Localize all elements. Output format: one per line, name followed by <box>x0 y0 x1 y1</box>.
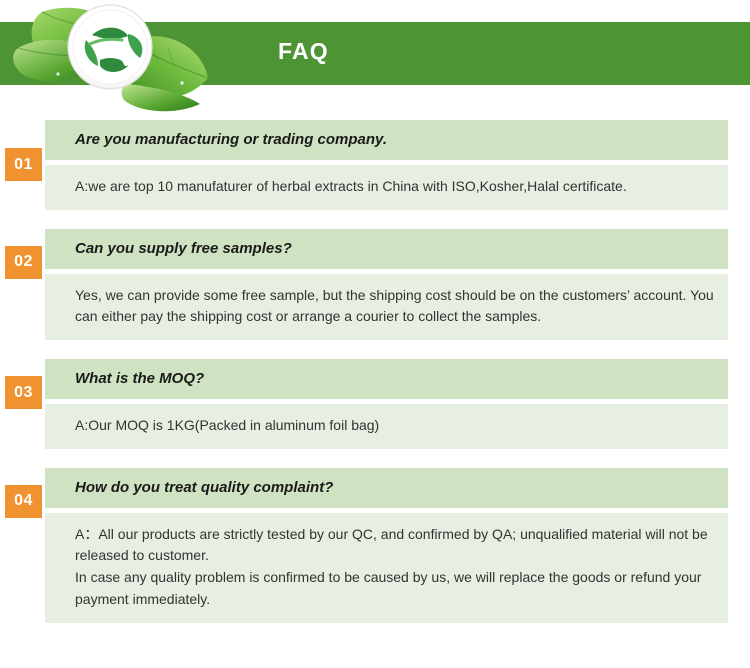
faq-answer: A:Our MOQ is 1KG(Packed in aluminum foil… <box>45 404 728 449</box>
faq-question: Can you supply free samples? <box>45 229 728 269</box>
faq-item: 03 What is the MOQ? A:Our MOQ is 1KG(Pac… <box>0 359 750 449</box>
page-title: FAQ <box>278 38 329 65</box>
faq-number-badge: 03 <box>5 376 42 409</box>
faq-number-badge: 01 <box>5 148 42 181</box>
faq-number-badge: 02 <box>5 246 42 279</box>
faq-item: 01 Are you manufacturing or trading comp… <box>0 120 750 210</box>
faq-answer: A：All our products are strictly tested b… <box>45 513 728 623</box>
faq-question: How do you treat quality complaint? <box>45 468 728 508</box>
faq-item: 02 Can you supply free samples? Yes, we … <box>0 229 750 340</box>
faq-list: 01 Are you manufacturing or trading comp… <box>0 120 750 623</box>
faq-question: What is the MOQ? <box>45 359 728 399</box>
faq-answer: A:we are top 10 manufaturer of herbal ex… <box>45 165 728 210</box>
page-header: FAQ <box>0 0 750 120</box>
header-green-band <box>0 22 750 85</box>
faq-number-badge: 04 <box>5 485 42 518</box>
faq-answer: Yes, we can provide some free sample, bu… <box>45 274 728 340</box>
faq-question: Are you manufacturing or trading company… <box>45 120 728 160</box>
faq-item: 04 How do you treat quality complaint? A… <box>0 468 750 623</box>
